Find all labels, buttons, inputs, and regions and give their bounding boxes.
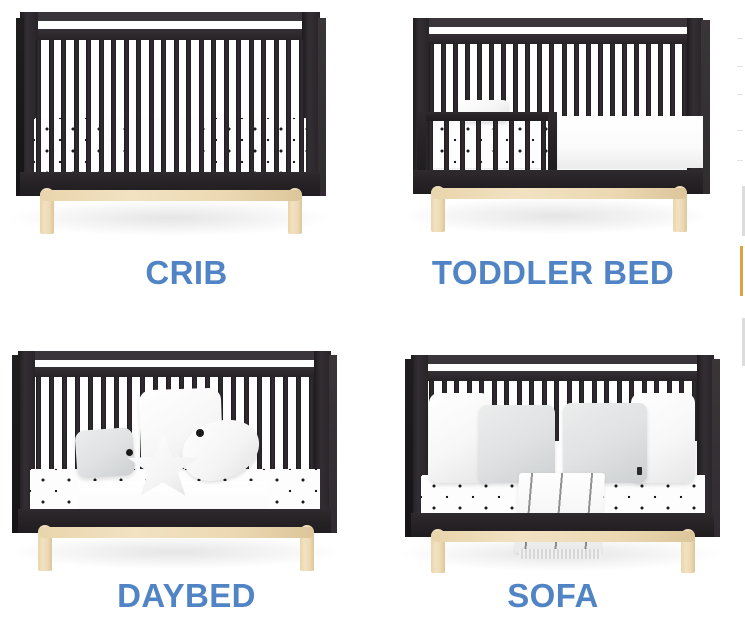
- crib-top-rail-inner: [34, 21, 306, 29]
- slat: [236, 40, 241, 172]
- slat: [562, 44, 567, 120]
- daybed-illustration: [0, 333, 373, 581]
- slat: [274, 40, 279, 172]
- daybed-side-panel-left: [12, 355, 20, 533]
- daybed-wood-stretcher: [38, 527, 314, 538]
- sofa-wood-stretcher: [431, 531, 695, 542]
- daybed-star-plush-eye: [126, 449, 133, 456]
- slat: [224, 40, 229, 172]
- slat: [646, 44, 651, 120]
- slat: [86, 40, 91, 172]
- slat: [99, 40, 104, 172]
- configuration-grid: CRIB: [0, 0, 733, 637]
- slat: [249, 40, 254, 172]
- toddler-guard-rail-top: [417, 112, 557, 121]
- slat: [476, 121, 481, 171]
- floor-shadow: [401, 198, 711, 234]
- slat: [74, 40, 79, 172]
- sofa-cushion-tag: [637, 467, 642, 475]
- sofa-side-panel-left: [405, 359, 413, 537]
- toddler-bed-illustration: [373, 0, 733, 248]
- slat: [136, 40, 141, 172]
- slat: [296, 377, 301, 473]
- slat: [36, 377, 41, 473]
- crib-wood-stretcher: [40, 190, 302, 201]
- slat: [670, 44, 675, 120]
- config-panel-sofa[interactable]: SOFA: [373, 319, 733, 637]
- slat: [513, 44, 518, 120]
- config-panel-toddler-bed[interactable]: TODDLER BED: [373, 0, 733, 319]
- toddler-guard-rail-slats: [428, 121, 546, 171]
- slat: [428, 121, 433, 171]
- slat: [610, 44, 615, 120]
- slat: [525, 44, 530, 120]
- slat: [211, 40, 216, 172]
- sofa-cushion-grey-left: [479, 405, 555, 483]
- slat: [61, 40, 66, 172]
- rail-tick: [737, 130, 743, 131]
- toddler-top-rail-front: [415, 34, 701, 44]
- slat: [111, 40, 116, 172]
- config-panel-crib[interactable]: CRIB: [0, 0, 373, 319]
- slat: [174, 40, 179, 172]
- sofa-top-rail-inner: [427, 364, 699, 371]
- slat: [309, 377, 314, 473]
- slat: [429, 44, 434, 120]
- slat: [453, 44, 458, 120]
- rail-tick: [737, 38, 743, 39]
- page-right-rail: [733, 0, 745, 637]
- rail-tick: [737, 160, 743, 161]
- slat: [658, 44, 663, 120]
- slat: [598, 44, 603, 120]
- toddler-top-rail-inner: [427, 27, 689, 34]
- toddler-wood-stretcher: [431, 188, 687, 199]
- daybed-moon-plush-eye: [196, 429, 204, 437]
- slat: [525, 121, 530, 171]
- sofa-top-rail-back: [413, 355, 713, 364]
- slat: [586, 44, 591, 120]
- slat: [549, 44, 554, 120]
- slat: [199, 40, 204, 172]
- slat: [299, 40, 304, 172]
- sofa-side-panel-right: [712, 359, 720, 537]
- crib-top-rail-back: [22, 12, 318, 21]
- rail-tick: [737, 66, 743, 67]
- slat: [634, 44, 639, 120]
- crib-slats: [36, 40, 304, 172]
- sofa-illustration: [373, 333, 733, 581]
- crib-illustration: [0, 0, 373, 248]
- config-label-crib: CRIB: [0, 256, 373, 289]
- toddler-mattress-open: [555, 116, 703, 168]
- daybed-top-rail-back: [20, 351, 330, 360]
- slat: [49, 40, 54, 172]
- slat: [622, 44, 627, 120]
- slat: [270, 377, 275, 473]
- slat: [509, 121, 514, 171]
- slat: [682, 44, 687, 120]
- daybed-top-rail-inner: [34, 360, 316, 367]
- slat: [286, 40, 291, 172]
- config-label-daybed: DAYBED: [0, 579, 373, 612]
- floor-shadow: [10, 535, 340, 569]
- slat: [441, 44, 446, 120]
- toddler-guard-rail-post-right: [548, 112, 557, 174]
- crib-top-rail-front: [22, 29, 318, 40]
- slat: [574, 44, 579, 120]
- slat: [257, 377, 262, 473]
- toddler-guard-rail-post-left: [417, 112, 426, 174]
- rail-tick: [737, 94, 743, 95]
- floor-shadow: [10, 200, 330, 236]
- slat: [444, 121, 449, 171]
- slat: [261, 40, 266, 172]
- sofa-cushion-grey-right: [563, 403, 647, 483]
- crib-side-panel-left: [16, 18, 24, 196]
- slat: [62, 377, 67, 473]
- slat: [541, 121, 546, 171]
- slat: [283, 377, 288, 473]
- sofa-throw-fringe: [519, 549, 601, 559]
- crib-side-panel-right: [318, 18, 326, 196]
- slat: [460, 121, 465, 171]
- slat: [49, 377, 54, 473]
- config-label-sofa: SOFA: [373, 579, 733, 612]
- slat: [186, 40, 191, 172]
- toddler-top-rail-back: [415, 18, 701, 27]
- slat: [36, 40, 41, 172]
- rail-accent-bar: [740, 246, 743, 296]
- slat: [537, 44, 542, 120]
- slat: [124, 40, 129, 172]
- slat: [161, 40, 166, 172]
- daybed-side-panel-right: [329, 355, 337, 533]
- config-panel-daybed[interactable]: DAYBED: [0, 319, 373, 637]
- sofa-top-rail-front: [413, 371, 713, 381]
- daybed-top-rail-front: [20, 367, 330, 377]
- slat: [493, 121, 498, 171]
- config-label-toddler-bed: TODDLER BED: [373, 256, 733, 289]
- slat: [149, 40, 154, 172]
